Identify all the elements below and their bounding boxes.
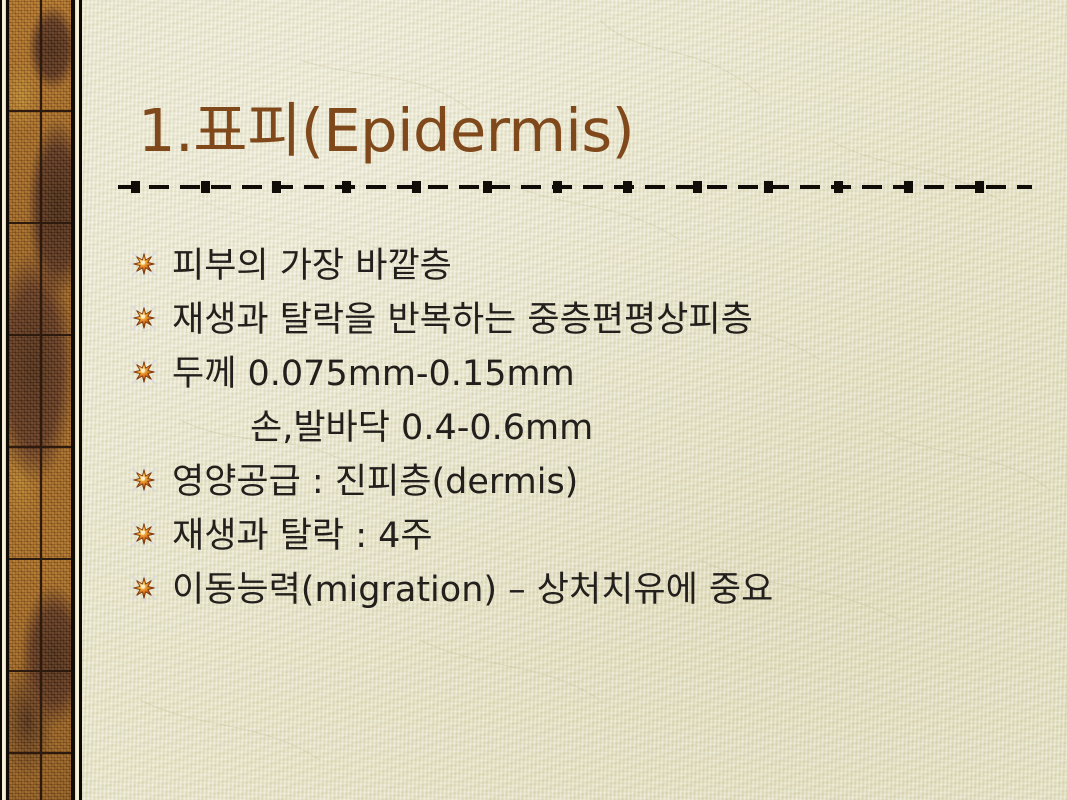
bullet-item: 이동능력(migration) – 상처치유에 중요: [130, 563, 1030, 617]
star-burst-bullet-icon: [130, 574, 158, 602]
border-pinstripe-right: [75, 0, 79, 800]
border-grid-horizontal-line: [9, 558, 71, 560]
bullet-text: 재생과 탈락 : 4주: [172, 509, 433, 563]
divider-square-marker: [975, 181, 984, 193]
border-grid-vertical-line: [40, 0, 42, 800]
border-grid-horizontal-line: [9, 334, 71, 336]
border-grid-horizontal-line: [9, 446, 71, 448]
slide-title: 1.표피(Epidermis): [138, 96, 634, 166]
bullet-item: 재생과 탈락 : 4주: [130, 509, 1030, 563]
divider-square-marker: [553, 181, 562, 193]
sub-bullet-item: 손,발바닥 0.4-0.6mm: [130, 401, 1030, 455]
divider-square-marker: [904, 181, 913, 193]
star-burst-bullet-icon: [130, 358, 158, 386]
bullet-text: 영양공급 : 진피층(dermis): [172, 455, 578, 509]
border-grid-horizontal-line: [9, 110, 71, 112]
bullet-list: 피부의 가장 바깥층재생과 탈락을 반복하는 중층편평상피층두께 0.075mm…: [130, 239, 1030, 617]
star-burst-bullet-icon: [130, 466, 158, 494]
bullet-item: 두께 0.075mm-0.15mm: [130, 347, 1030, 401]
bullet-item: 피부의 가장 바깥층: [130, 239, 1030, 293]
border-texture-panel: [9, 0, 71, 800]
divider-square-marker: [412, 181, 421, 193]
star-burst-bullet-icon: [130, 250, 158, 278]
border-grid-horizontal-line: [9, 670, 71, 672]
bullet-text: 이동능력(migration) – 상처치유에 중요: [172, 563, 773, 617]
dashed-divider: [118, 178, 1032, 196]
divider-square-marker: [483, 181, 492, 193]
divider-square-marker: [342, 181, 351, 193]
divider-square-marker: [131, 181, 140, 193]
divider-square-marker: [764, 181, 773, 193]
bullet-text: 재생과 탈락을 반복하는 중층편평상피층: [172, 293, 753, 347]
divider-markers: [118, 178, 1032, 196]
bullet-text: 두께 0.075mm-0.15mm: [172, 347, 575, 401]
border-grid-horizontal-line: [9, 222, 71, 224]
divider-square-marker: [693, 181, 702, 193]
bullet-item: 재생과 탈락을 반복하는 중층편평상피층: [130, 293, 1030, 347]
divider-square-marker: [834, 181, 843, 193]
border-grid-horizontal-line: [9, 752, 71, 754]
bullet-item: 영양공급 : 진피층(dermis): [130, 455, 1030, 509]
bullet-text: 손,발바닥 0.4-0.6mm: [250, 401, 593, 455]
divider-square-marker: [623, 181, 632, 193]
divider-square-marker: [201, 181, 210, 193]
slide: 1.표피(Epidermis) 피부의 가장 바깥층재생과 탈락을 반복하는 중…: [0, 0, 1067, 800]
decorative-left-border: [0, 0, 82, 800]
star-burst-bullet-icon: [130, 520, 158, 548]
divider-square-marker: [272, 181, 281, 193]
star-burst-bullet-icon: [130, 304, 158, 332]
bullet-text: 피부의 가장 바깥층: [172, 239, 452, 293]
